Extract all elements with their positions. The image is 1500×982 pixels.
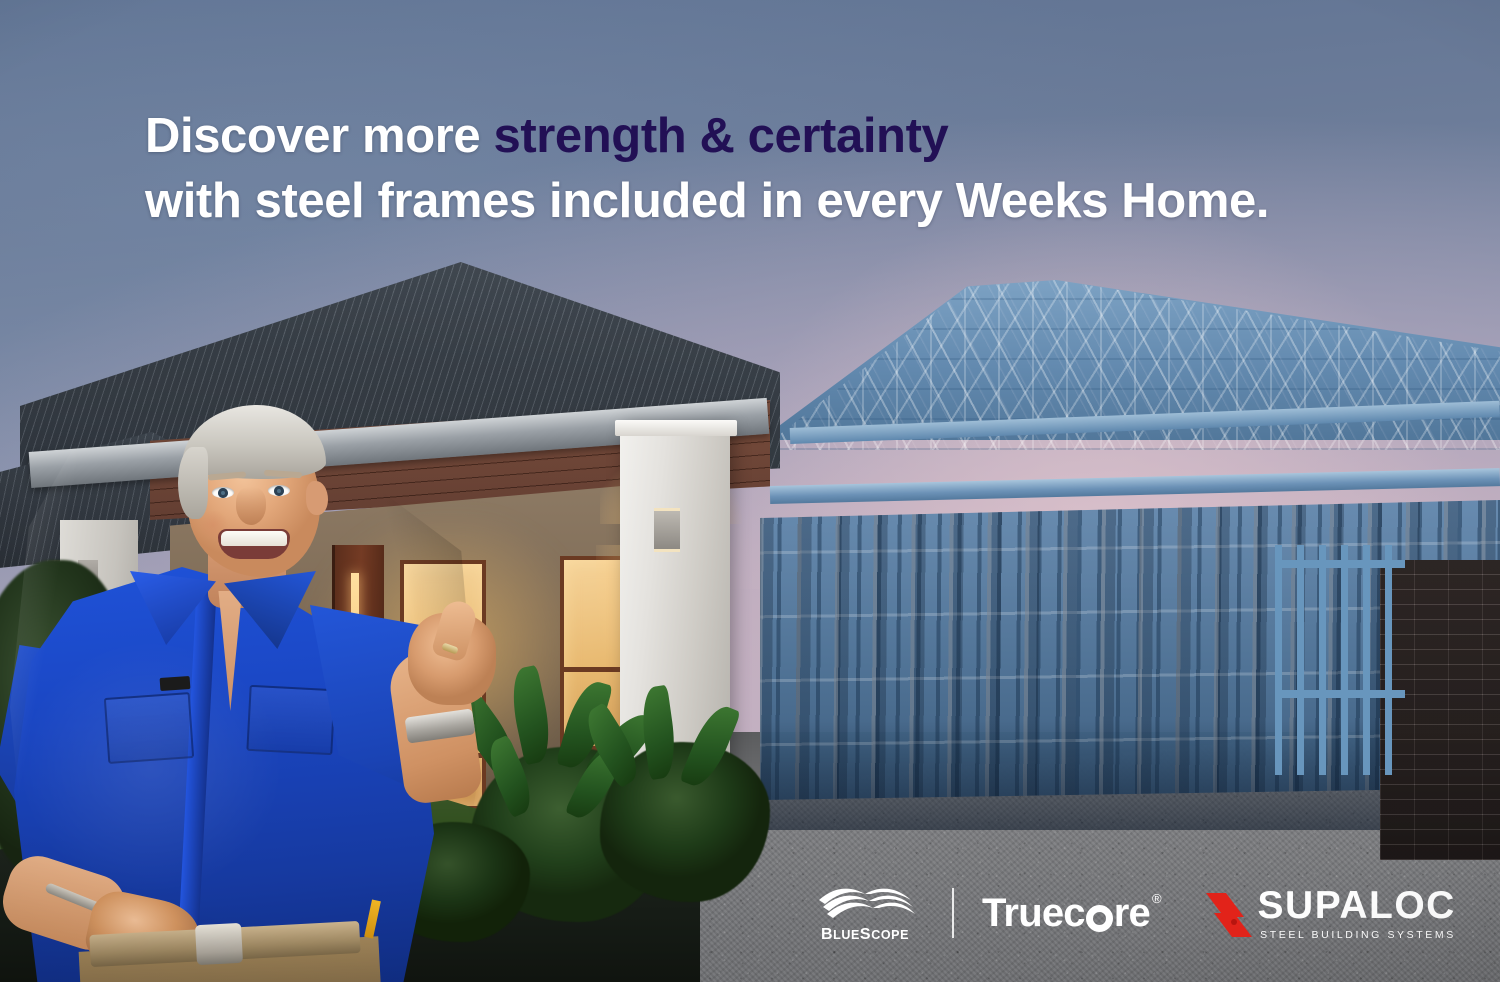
registered-trademark-icon: ® bbox=[1152, 891, 1162, 906]
fence-rail-bottom bbox=[1275, 690, 1405, 698]
supaloc-wordmark: SUPALOC bbox=[1258, 886, 1456, 925]
supaloc-logo[interactable]: SUPALOC STEEL BUILDING SYSTEMS bbox=[1204, 886, 1456, 941]
plant-leaf bbox=[637, 685, 680, 780]
brand-badge bbox=[160, 676, 191, 691]
shirt-pocket-right bbox=[246, 685, 335, 755]
logo-divider bbox=[952, 888, 954, 938]
presenter-smile bbox=[218, 529, 290, 559]
truecore-ring-o-icon bbox=[1086, 905, 1113, 932]
presenter-eye-left bbox=[212, 487, 234, 498]
truecore-word-before-o: Truec bbox=[982, 893, 1085, 933]
promo-banner: Discover more strength & certainty with … bbox=[0, 0, 1500, 982]
presenter-figure bbox=[10, 395, 480, 982]
presenter-nose bbox=[236, 487, 266, 525]
headline-line1-prefix: Discover more bbox=[145, 109, 493, 163]
strelitzia-plant-second bbox=[610, 690, 760, 900]
headline: Discover more strength & certainty with … bbox=[145, 104, 1395, 233]
pupil bbox=[218, 488, 228, 498]
supaloc-text-block: SUPALOC STEEL BUILDING SYSTEMS bbox=[1258, 886, 1456, 941]
presenter-ear bbox=[306, 481, 328, 515]
supaloc-tagline: STEEL BUILDING SYSTEMS bbox=[1258, 929, 1456, 941]
teeth bbox=[221, 531, 287, 546]
truecore-word-after-o: re bbox=[1114, 893, 1150, 933]
pillar-cap bbox=[615, 420, 737, 436]
bluescope-wordmark: BLUESCOPE bbox=[821, 927, 909, 943]
truecore-logo[interactable]: Truecre ® bbox=[982, 893, 1162, 933]
plant-leaf bbox=[679, 700, 741, 792]
supaloc-bolt-icon bbox=[1204, 887, 1256, 939]
presenter-eye-right bbox=[268, 485, 290, 496]
headline-highlight: strength & certainty bbox=[493, 109, 948, 163]
truecore-wordmark: Truecre bbox=[982, 893, 1150, 933]
wall-light-icon bbox=[654, 508, 680, 552]
bluescope-wave-icon bbox=[813, 883, 917, 923]
presenter-hair-side bbox=[178, 447, 208, 519]
logo-bar: BLUESCOPE Truecre ® SUPALOC STEEL BUILDI… bbox=[806, 876, 1456, 950]
blue-fence bbox=[1275, 545, 1405, 775]
bluescope-logo[interactable]: BLUESCOPE bbox=[806, 883, 924, 943]
belt-buckle bbox=[195, 923, 243, 965]
headline-line2: with steel frames included in every Week… bbox=[145, 169, 1395, 234]
fence-rail-top bbox=[1275, 560, 1405, 568]
pupil bbox=[274, 486, 284, 496]
shirt-pocket-left bbox=[104, 692, 194, 764]
